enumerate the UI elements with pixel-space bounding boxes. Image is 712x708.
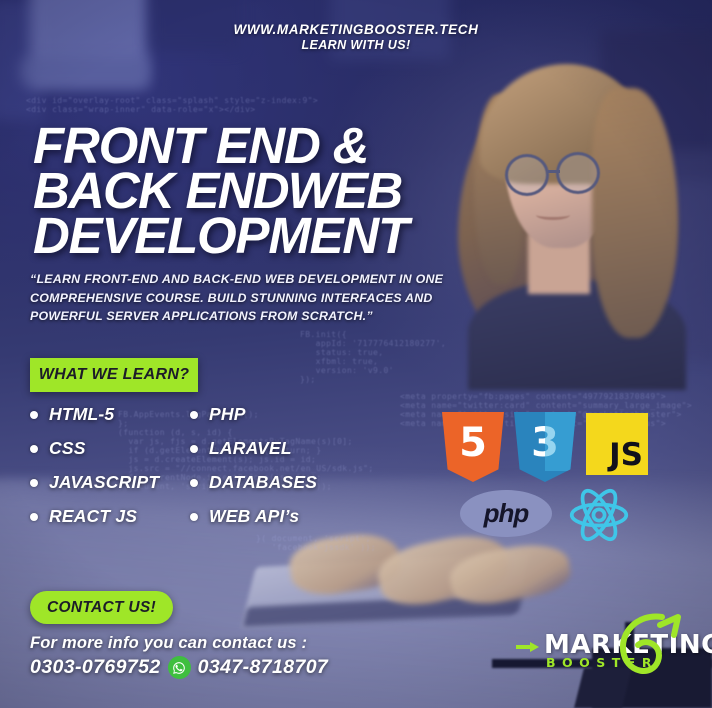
- skills-lists: HTML-5 CSS JAVASCRIPT REACT JS PHP LARAV…: [30, 404, 430, 527]
- skills-column-left: HTML-5 CSS JAVASCRIPT REACT JS: [30, 404, 190, 527]
- marketing-poster: <div id="overlay-root" class="splash" st…: [0, 0, 712, 708]
- list-item: PHP: [190, 404, 390, 425]
- phone-number-whatsapp[interactable]: 0347-8718707: [198, 656, 329, 679]
- html5-logo-label: 5: [459, 420, 487, 466]
- bullet-icon: [30, 479, 38, 487]
- bullet-icon: [30, 513, 38, 521]
- title-line-3: DEVELOPMENT: [33, 213, 503, 258]
- skill-label: REACT JS: [49, 506, 137, 527]
- bullet-icon: [190, 513, 198, 521]
- bullet-icon: [190, 445, 198, 453]
- website-url: WWW.MARKETINGBOOSTER.TECH: [0, 22, 712, 38]
- list-item: HTML-5: [30, 404, 190, 425]
- javascript-logo-label: JS: [609, 440, 648, 475]
- header-tagline: LEARN WITH US!: [0, 38, 712, 53]
- php-logo-label: php: [484, 498, 529, 529]
- contact-info-label: For more info you can contact us :: [30, 634, 328, 653]
- skill-label: PHP: [209, 404, 246, 425]
- html5-logo: 5: [442, 412, 504, 482]
- contact-details: For more info you can contact us : 0303-…: [30, 634, 328, 679]
- contact-phone-row: 0303-0769752 0347-8718707: [30, 656, 328, 679]
- list-item: LARAVEL: [190, 438, 390, 459]
- skill-label: HTML-5: [49, 404, 114, 425]
- bullet-icon: [30, 411, 38, 419]
- phone-number-primary[interactable]: 0303-0769752: [30, 656, 161, 679]
- list-item: CSS: [30, 438, 190, 459]
- bullet-icon: [190, 411, 198, 419]
- contact-us-badge[interactable]: CONTACT US!: [30, 591, 173, 624]
- what-we-learn-badge: WHAT WE LEARN?: [30, 358, 198, 392]
- list-item: DATABASES: [190, 472, 390, 493]
- whatsapp-icon: [168, 656, 191, 679]
- php-logo: php: [460, 490, 552, 537]
- skill-label: DATABASES: [209, 472, 317, 493]
- header-website-block: WWW.MARKETINGBOOSTER.TECH LEARN WITH US!: [0, 22, 712, 53]
- skill-label: LARAVEL: [209, 438, 292, 459]
- technology-logos: 5 3 JS php: [440, 408, 690, 548]
- course-description: “LEARN FRONT-END AND BACK-END WEB DEVELO…: [30, 270, 480, 326]
- skill-label: CSS: [49, 438, 86, 459]
- list-item: JAVASCRIPT: [30, 472, 190, 493]
- css3-logo: 3: [514, 412, 576, 482]
- brand-logo: MARKETING BOOSTER: [516, 625, 706, 673]
- list-item: WEB API’s: [190, 506, 390, 527]
- list-item: REACT JS: [30, 506, 190, 527]
- arrow-right-icon: [516, 641, 540, 653]
- javascript-logo: JS: [586, 413, 648, 475]
- bullet-icon: [30, 445, 38, 453]
- skills-column-right: PHP LARAVEL DATABASES WEB API’s: [190, 404, 390, 527]
- skill-label: JAVASCRIPT: [49, 472, 159, 493]
- bullet-icon: [190, 479, 198, 487]
- skill-label: WEB API’s: [209, 506, 299, 527]
- brand-swoosh-icon: [608, 611, 698, 683]
- react-logo: [568, 486, 630, 544]
- page-title: FRONT END & BACK ENDWEB DEVELOPMENT: [33, 123, 503, 258]
